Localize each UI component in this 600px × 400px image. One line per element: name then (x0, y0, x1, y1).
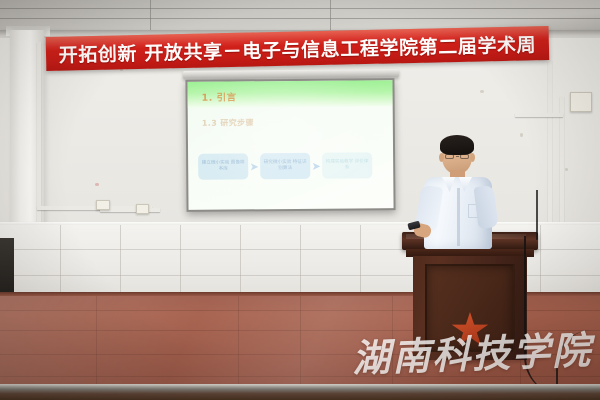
slide-title: 1. 引言 (202, 89, 237, 103)
glasses-left-lens (445, 154, 454, 159)
conduit-pipe-right-h (515, 113, 563, 117)
presenter-right-arm (474, 185, 499, 229)
flow-box-3: 构建实验教学 评价体系 (322, 152, 372, 178)
presenter (412, 138, 508, 248)
lecture-hall-photo: 开拓创新 开放共享－电子与信息工程学院第二届学术周 1. 引言 1.3 研究步骤… (0, 0, 600, 400)
lectern (406, 232, 534, 360)
slide-flow-diagram: 建立微小实验 图像样本库 ➤ 研究微小实验 特征识别算法 ➤ 构建实验教学 评价… (198, 152, 388, 180)
presenter-hair (440, 135, 474, 155)
projection-screen: 1. 引言 1.3 研究步骤 建立微小实验 图像样本库 ➤ 研究微小实验 特征识… (185, 78, 395, 212)
flow-arrow-1: ➤ (248, 160, 260, 173)
glasses-bridge (456, 156, 459, 157)
presentation-slide: 1. 引言 1.3 研究步骤 建立微小实验 图像样本库 ➤ 研究微小实验 特征识… (187, 80, 393, 210)
presenter-ear-left (439, 153, 444, 162)
lectern-front-panel (425, 264, 515, 352)
event-banner-text: 开拓创新 开放共享－电子与信息工程学院第二届学术周 (58, 30, 536, 67)
presenter-ear-right (470, 153, 475, 162)
flow-box-2: 研究微小实验 特征识别算法 (260, 153, 310, 179)
wall-outlet-center[interactable] (136, 204, 149, 214)
conduit-pipe-left (37, 42, 41, 250)
flow-arrow-2: ➤ (310, 159, 322, 172)
shirt-button-placket (457, 188, 460, 246)
wall-outlet-left[interactable] (96, 200, 110, 210)
slide-subtitle: 1.3 研究步骤 (202, 117, 254, 128)
flow-box-1: 建立微小实验 图像样本库 (198, 153, 248, 179)
glasses-right-lens (460, 154, 469, 159)
stage-edge (0, 386, 600, 400)
dark-doorway (0, 238, 14, 296)
electrical-box-right[interactable] (570, 92, 592, 112)
lectern-body (413, 256, 527, 360)
